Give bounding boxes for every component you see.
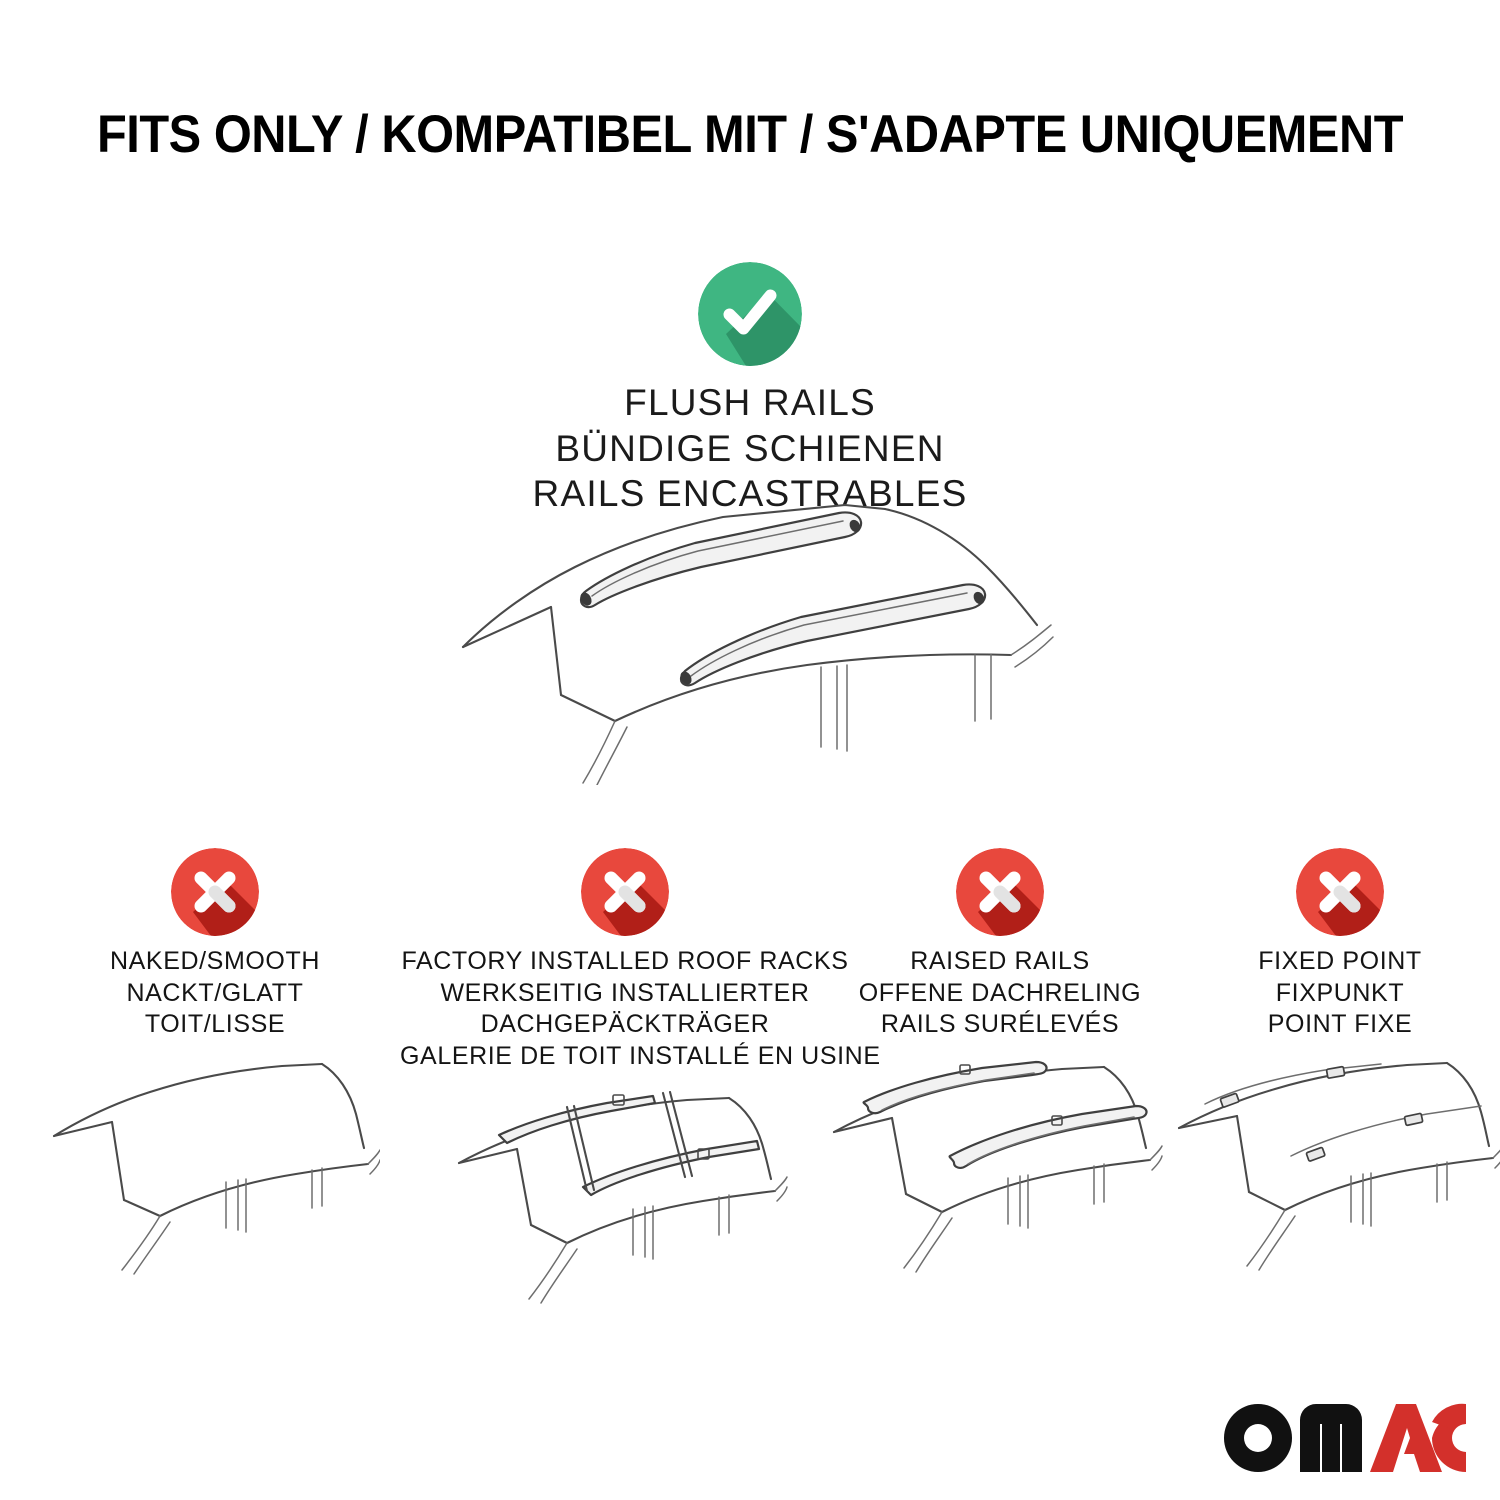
car-roof-fixed-point-illustration [1175,1060,1500,1275]
car-roof-with-flush-rails-illustration [455,495,1055,785]
car-roof-raised-rails-illustration [830,1060,1170,1275]
option-label: NAKED/SMOOTH NACKT/GLATT TOIT/LISSE [75,946,355,1041]
omac-logo [1218,1398,1466,1482]
omac-logo-letter-a [1370,1404,1442,1472]
red-x-circle-icon [171,848,259,936]
option-label-line-2: OFFENE DACHRELING [845,978,1155,1010]
omac-logo-letter-c-top [1432,1404,1466,1430]
option-label-line-2: NACKT/GLATT [75,978,355,1010]
green-check-circle-icon [698,262,802,366]
incompatible-option-naked-smooth: NAKED/SMOOTH NACKT/GLATT TOIT/LISSE [75,848,355,1041]
red-x-circle-icon [581,848,669,936]
option-label-line-3: DACHGEPÄCKTRÄGER [400,1009,850,1041]
incompatible-option-fixed-point: FIXED POINT FIXPUNKT POINT FIXE [1190,848,1490,1041]
badge-wrap [75,848,355,936]
option-label-line-3: TOIT/LISSE [75,1009,355,1041]
badge-wrap [400,848,850,936]
option-label: RAISED RAILS OFFENE DACHRELING RAILS SUR… [845,946,1155,1041]
compatible-label-line-2: BÜNDIGE SCHIENEN [375,426,1125,472]
car-roof-naked-smooth-illustration [50,1060,380,1275]
option-label: FACTORY INSTALLED ROOF RACKS WERKSEITIG … [400,946,850,1072]
red-x-circle-icon [1296,848,1384,936]
option-label-line-2: FIXPUNKT [1190,978,1490,1010]
compatible-option: FLUSH RAILS BÜNDIGE SCHIENEN RAILS ENCAS… [375,262,1125,517]
option-label-line-1: NAKED/SMOOTH [75,946,355,978]
option-label-line-4: GALERIE DE TOIT INSTALLÉ EN USINE [400,1041,850,1073]
option-label-line-1: FIXED POINT [1190,946,1490,978]
car-roof-factory-racks-illustration [455,1091,795,1306]
option-label-line-2: WERKSEITIG INSTALLIERTER [400,978,850,1010]
page-title: FITS ONLY / KOMPATIBEL MIT / S'ADAPTE UN… [60,104,1440,165]
incompatible-option-factory-installed-roof-racks: FACTORY INSTALLED ROOF RACKS WERKSEITIG … [400,848,850,1072]
fitment-infographic: FITS ONLY / KOMPATIBEL MIT / S'ADAPTE UN… [0,0,1500,1500]
option-label: FIXED POINT FIXPUNKT POINT FIXE [1190,946,1490,1041]
red-x-circle-icon [956,848,1044,936]
option-label-line-1: FACTORY INSTALLED ROOF RACKS [400,946,850,978]
omac-logo-letter-o [1224,1404,1292,1472]
compatible-label-line-1: FLUSH RAILS [375,380,1125,426]
option-label-line-3: POINT FIXE [1190,1009,1490,1041]
omac-logo-letter-m [1300,1404,1362,1472]
option-label-line-3: RAILS SURÉLEVÉS [845,1009,1155,1041]
compatible-badge-wrap [375,262,1125,366]
badge-wrap [845,848,1155,936]
option-label-line-1: RAISED RAILS [845,946,1155,978]
badge-wrap [1190,848,1490,936]
incompatible-option-raised-rails: RAISED RAILS OFFENE DACHRELING RAILS SUR… [845,848,1155,1041]
incompatible-options: NAKED/SMOOTH NACKT/GLATT TOIT/LISSE [0,848,1500,1408]
